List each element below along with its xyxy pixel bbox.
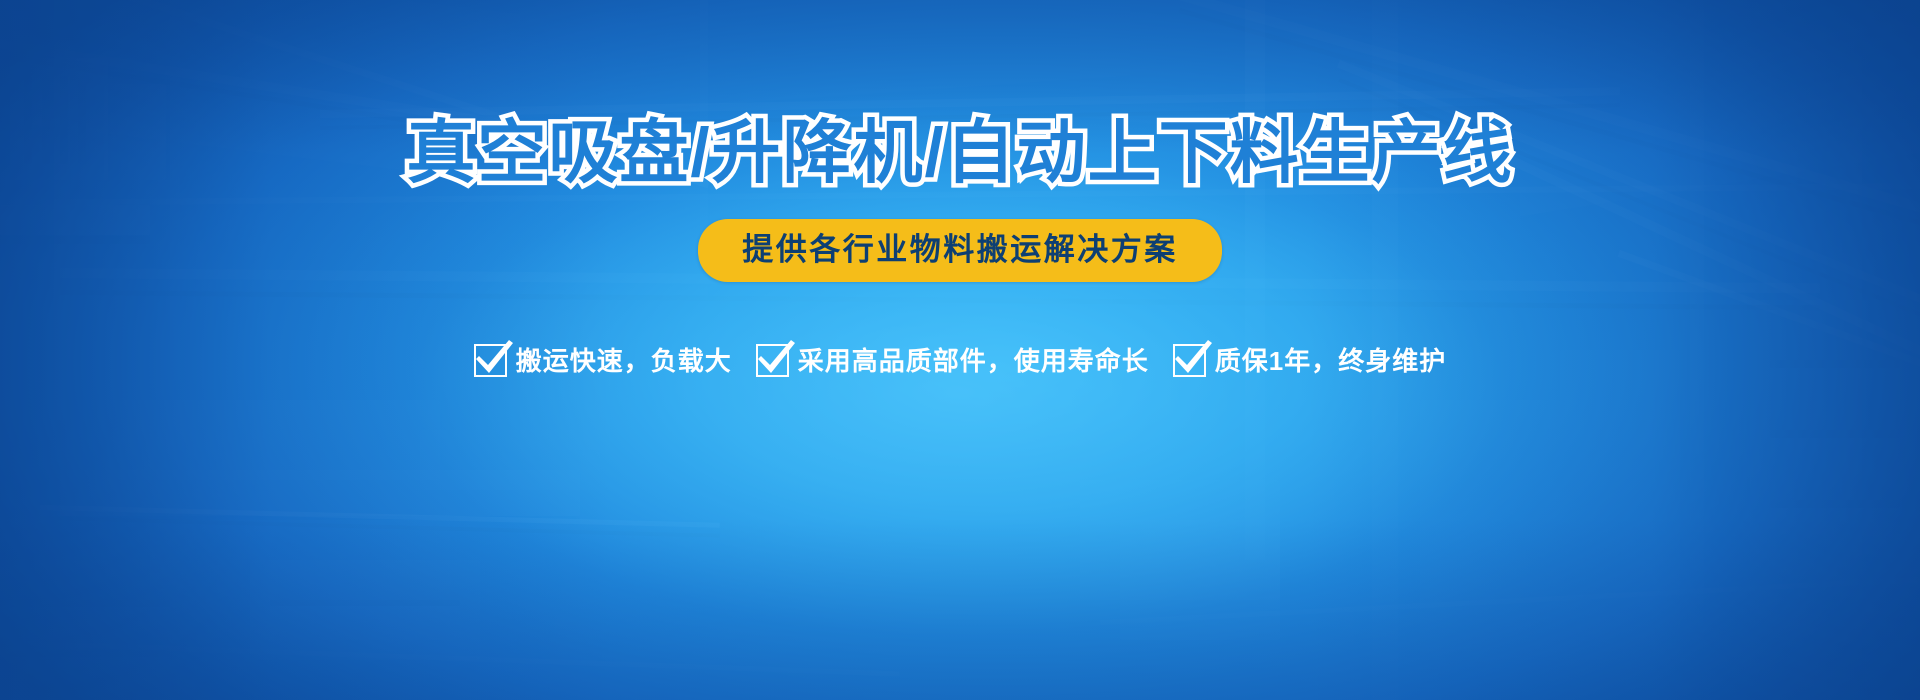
banner-tagline-badge: 提供各行业物料搬运解决方案: [698, 219, 1222, 282]
feature-item: 采用高品质部件，使用寿命长: [756, 344, 1149, 377]
feature-list: 搬运快速，负载大 采用高品质部件，使用寿命长 质保1年，终身维护: [474, 344, 1447, 377]
feature-label: 采用高品质部件，使用寿命长: [798, 348, 1149, 374]
feature-label: 质保1年，终身维护: [1215, 348, 1446, 374]
feature-item: 搬运快速，负载大: [474, 344, 732, 377]
checkbox-checked-icon: [1173, 344, 1206, 377]
banner-content: 真空吸盘/升降机/自动上下料生产线 提供各行业物料搬运解决方案 搬运快速，负载大…: [0, 0, 1920, 700]
feature-item: 质保1年，终身维护: [1173, 344, 1446, 377]
checkbox-checked-icon: [474, 344, 507, 377]
banner-headline: 真空吸盘/升降机/自动上下料生产线: [406, 118, 1513, 187]
checkbox-checked-icon: [756, 344, 789, 377]
feature-label: 搬运快速，负载大: [516, 348, 732, 374]
promo-banner: 真空吸盘/升降机/自动上下料生产线 提供各行业物料搬运解决方案 搬运快速，负载大…: [0, 0, 1920, 700]
